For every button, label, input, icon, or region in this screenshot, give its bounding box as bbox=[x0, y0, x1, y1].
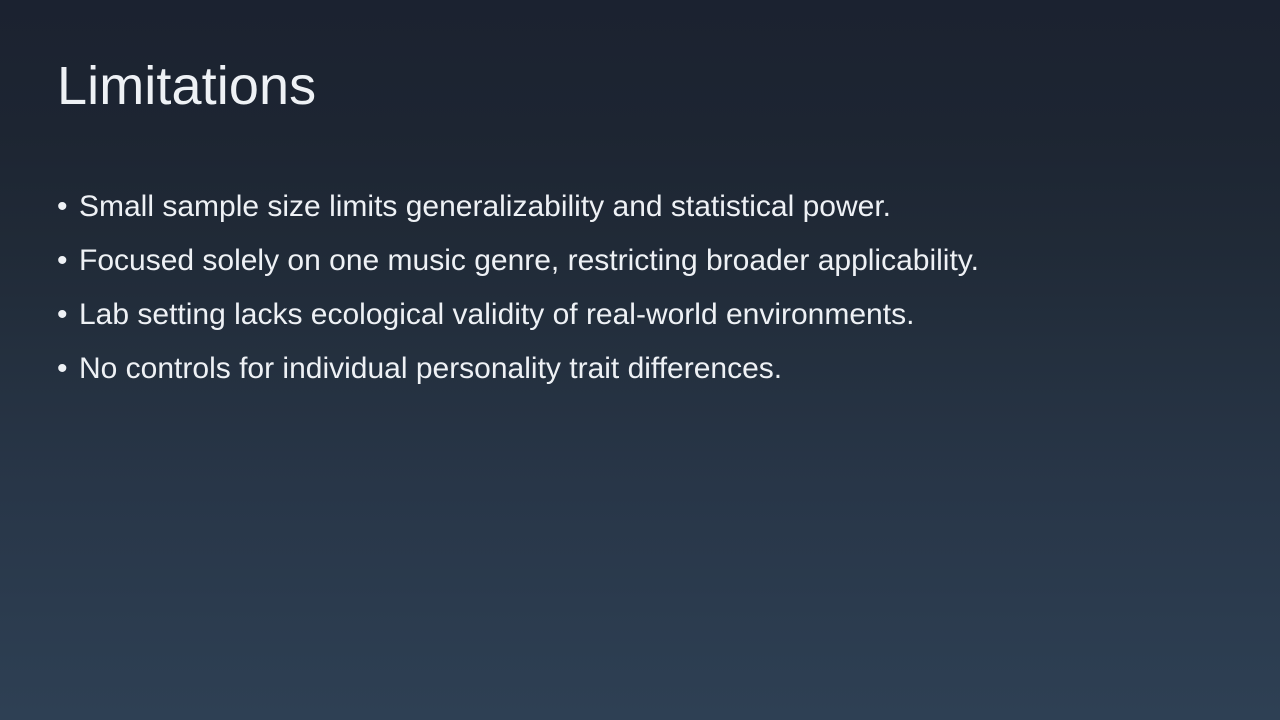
list-item-label: Focused solely on one music genre, restr… bbox=[79, 240, 979, 282]
list-item-label: Small sample size limits generalizabilit… bbox=[79, 186, 891, 228]
list-item: • Lab setting lacks ecological validity … bbox=[57, 294, 1207, 348]
list-item: • No controls for individual personality… bbox=[57, 348, 1207, 402]
presentation-slide: Limitations • Small sample size limits g… bbox=[0, 0, 1280, 720]
bullet-point-icon: • bbox=[57, 348, 79, 390]
page-title: Limitations bbox=[57, 57, 316, 115]
list-item: • Focused solely on one music genre, res… bbox=[57, 240, 1207, 294]
bullet-list: • Small sample size limits generalizabil… bbox=[57, 186, 1207, 402]
list-item: • Small sample size limits generalizabil… bbox=[57, 186, 1207, 240]
bullet-point-icon: • bbox=[57, 294, 79, 336]
bullet-point-icon: • bbox=[57, 240, 79, 282]
list-item-label: No controls for individual personality t… bbox=[79, 348, 782, 390]
bullet-point-icon: • bbox=[57, 186, 79, 228]
list-item-label: Lab setting lacks ecological validity of… bbox=[79, 294, 914, 336]
